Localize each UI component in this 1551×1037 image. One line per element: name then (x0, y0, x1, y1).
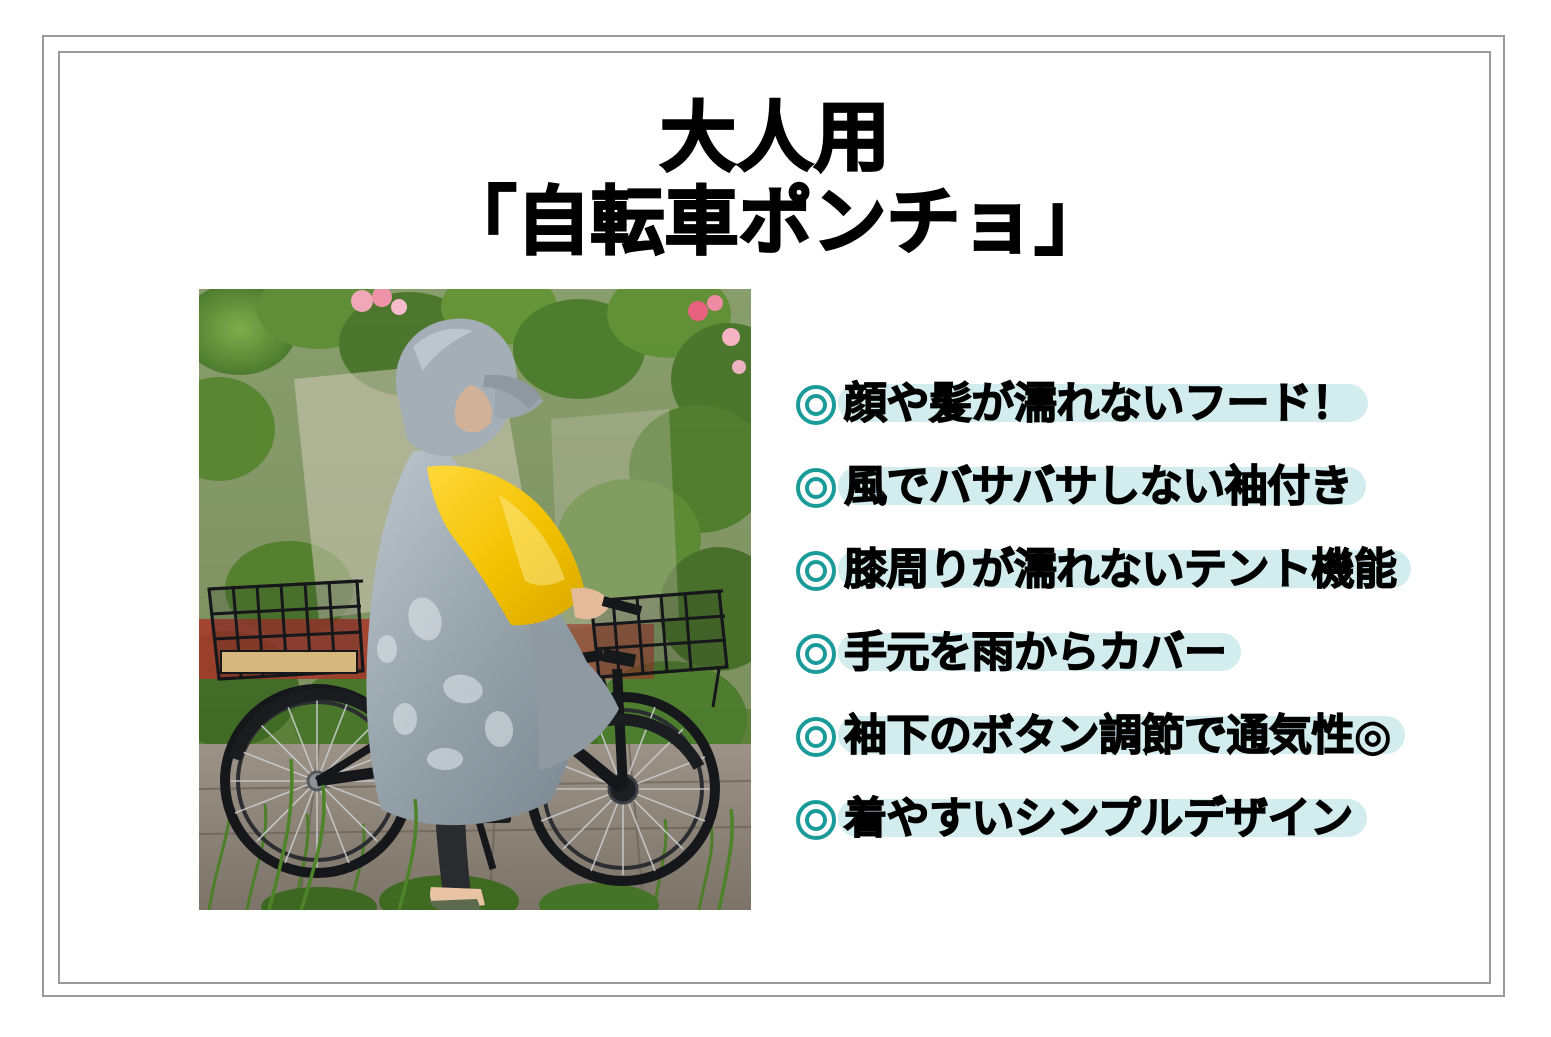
feature-item: 袖下のボタン調節で通気性◎ (795, 694, 1495, 777)
double-circle-icon (795, 467, 837, 509)
title-line-2: 「自転車ポンチョ」 (0, 180, 1551, 264)
feature-item: 手元を雨からカバー (795, 611, 1495, 694)
product-photo-illustration: STEPCRUZ (199, 289, 751, 910)
double-circle-icon (795, 384, 837, 426)
feature-list: 顔や髪が濡れないフード！ 風でバサバサしない袖付き 膝周りが濡れないテント機能 … (795, 362, 1495, 860)
feature-label: 膝周りが濡れないテント機能 (844, 547, 1397, 593)
feature-label: 着やすいシンプルデザイン (844, 796, 1353, 842)
feature-item: 風でバサバサしない袖付き (795, 445, 1495, 528)
title-line-1: 大人用 (0, 96, 1551, 180)
feature-item: 膝周りが濡れないテント機能 (795, 528, 1495, 611)
product-photo: STEPCRUZ (199, 289, 751, 910)
feature-item: 着やすいシンプルデザイン (795, 777, 1495, 860)
page-title: 大人用 「自転車ポンチョ」 (0, 96, 1551, 264)
double-circle-icon (795, 550, 837, 592)
feature-label: 顔や髪が濡れないフード！ (844, 381, 1354, 427)
feature-label: 風でバサバサしない袖付き (844, 464, 1352, 510)
double-circle-icon (795, 633, 837, 675)
double-circle-icon (795, 799, 837, 841)
double-circle-icon (795, 716, 837, 758)
feature-item: 顔や髪が濡れないフード！ (795, 362, 1495, 445)
feature-label: 手元を雨からカバー (844, 630, 1227, 676)
feature-label: 袖下のボタン調節で通気性◎ (844, 713, 1391, 759)
